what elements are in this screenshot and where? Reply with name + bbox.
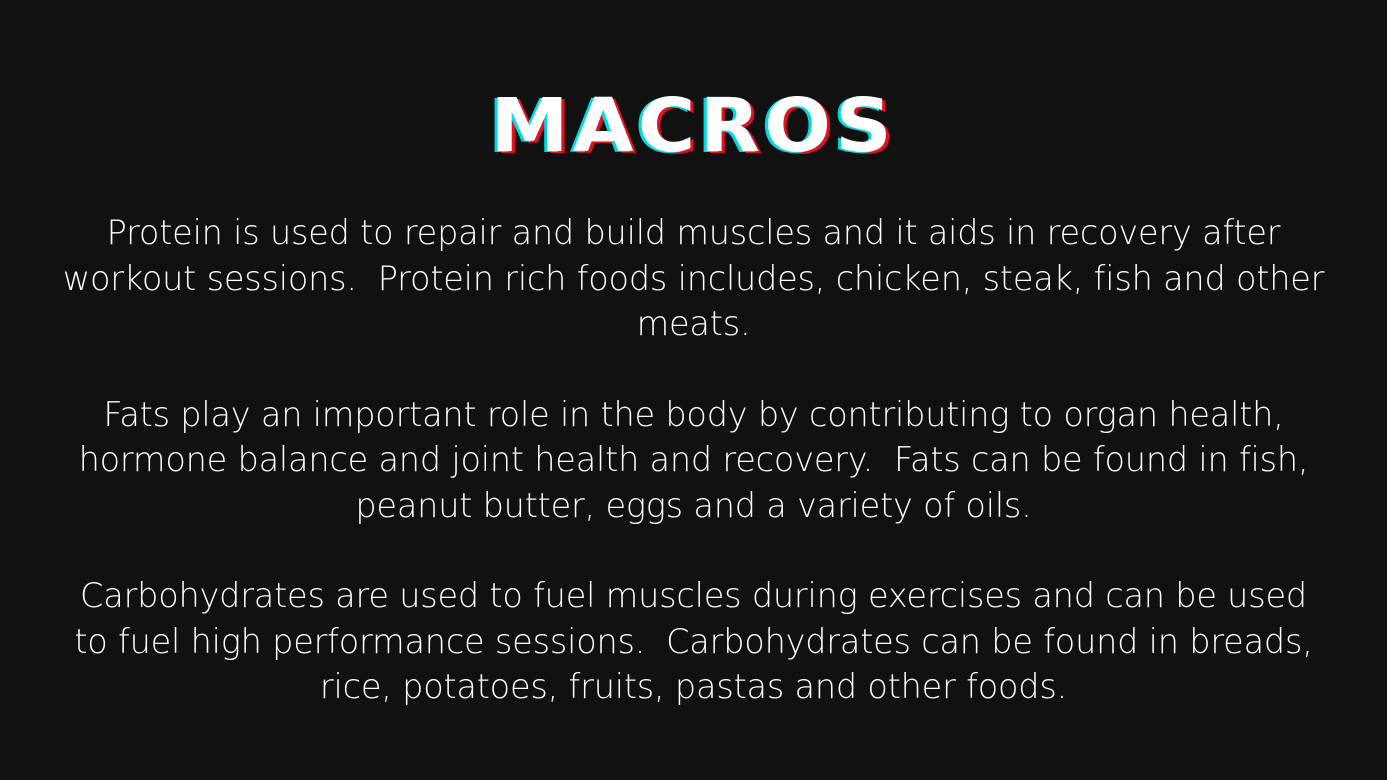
paragraph-spacer: [59, 528, 1329, 573]
paragraph-protein: Protein is used to repair and build musc…: [59, 210, 1329, 347]
body-copy-container: Protein is used to repair and build musc…: [59, 210, 1329, 710]
slide-canvas: MACROS Protein is used to repair and bui…: [0, 0, 1387, 780]
page-title: MACROS: [491, 80, 896, 172]
paragraph-fats: Fats play an important role in the body …: [59, 392, 1329, 529]
paragraph-spacer: [59, 347, 1329, 392]
title-container: MACROS: [0, 30, 1387, 122]
paragraph-carbohydrates: Carbohydrates are used to fuel muscles d…: [59, 573, 1329, 710]
